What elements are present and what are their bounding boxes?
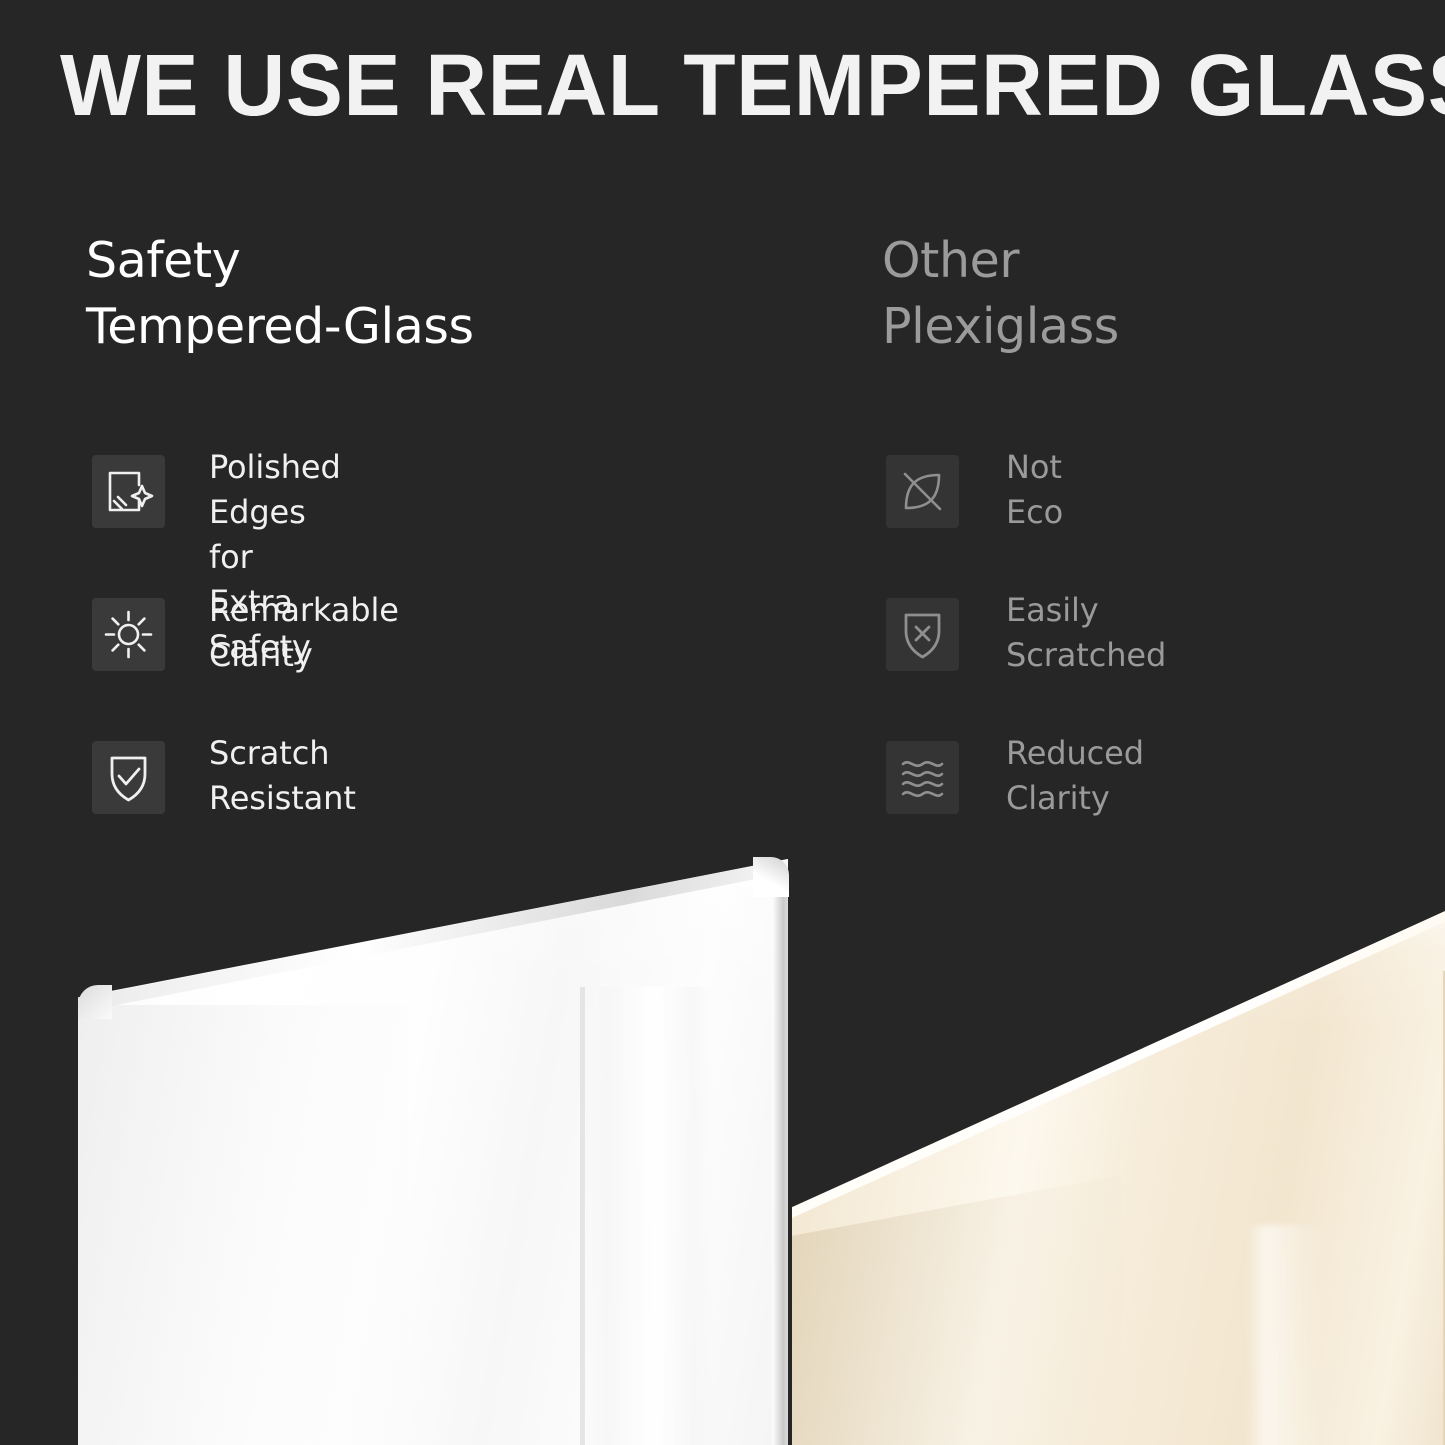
plexiglass-panel-reflection xyxy=(1246,1225,1324,1445)
feature-label: Scratch Resistant xyxy=(209,731,356,821)
wavy-lines-distortion-icon xyxy=(886,741,959,814)
tempered-glass-panel-reflection xyxy=(583,987,713,1445)
tempered-glass-panel-shading xyxy=(78,1005,408,1445)
page-title: WE USE REAL TEMPERED GLASS xyxy=(60,38,1380,134)
feature-label: Not Eco xyxy=(1006,445,1063,535)
column-plexiglass: Other Plexiglass xyxy=(882,228,1402,360)
tempered-glass-corner-top-right xyxy=(753,857,789,897)
sun-brightness-icon xyxy=(92,598,165,671)
column-tempered-glass: Safety Tempered-Glass xyxy=(86,228,846,360)
column-title-right: Other Plexiglass xyxy=(882,228,1402,360)
column-title-left: Safety Tempered-Glass xyxy=(86,228,846,360)
tempered-glass-panel-right-edge xyxy=(772,865,788,1445)
tempered-glass-corner-top-left xyxy=(78,985,112,1019)
feature-label: Reduced Clarity xyxy=(1006,731,1144,821)
product-photo xyxy=(0,845,1445,1445)
comparison-infographic: WE USE REAL TEMPERED GLASS Safety Temper… xyxy=(0,0,1445,1445)
polished-glass-sparkle-icon xyxy=(92,455,165,528)
feature-label: Easily Scratched xyxy=(1006,588,1166,678)
feature-label: Remarkable Clarity xyxy=(209,588,399,678)
shield-check-icon xyxy=(92,741,165,814)
leaf-crossed-out-icon xyxy=(886,455,959,528)
shield-x-icon xyxy=(886,598,959,671)
